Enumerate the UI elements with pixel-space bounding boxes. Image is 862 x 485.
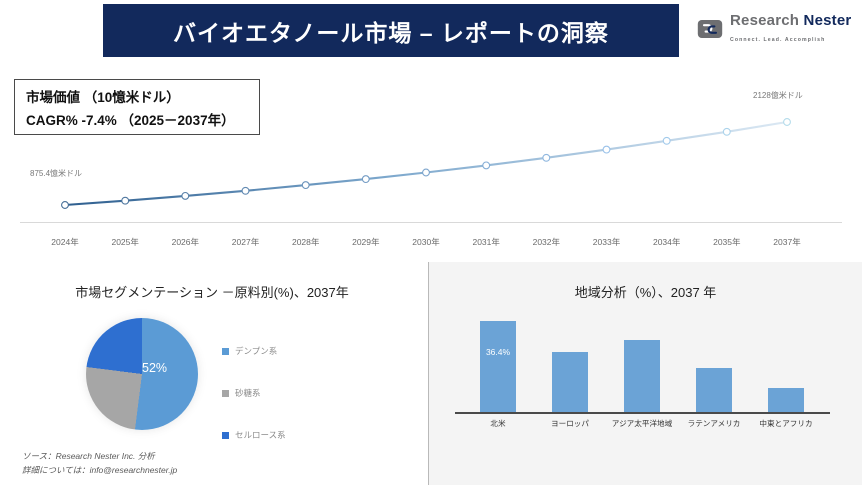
bar-category-label: ヨーロッパ <box>551 418 589 429</box>
line-chart-x-axis <box>20 222 842 223</box>
bar-rect <box>552 352 588 412</box>
bar-rect: 36.4% <box>480 321 516 412</box>
brand-logo[interactable]: Research Nester Connect. Lead. Accomplis… <box>697 13 862 45</box>
logo-tagline: Connect. Lead. Accomplish <box>730 37 825 43</box>
legend-swatch-icon <box>222 348 229 355</box>
x-axis-tick-6: 2030年 <box>412 236 439 248</box>
header-band: バイオエタノール市場 – レポートの洞察 <box>103 4 679 57</box>
line-end-value-label: 2128億米ドル <box>753 90 803 101</box>
line-data-point <box>182 193 189 200</box>
market-forecast-line-chart: 875.4憶米ドル 2128億米ドル <box>0 60 862 260</box>
bar-column <box>696 312 732 412</box>
bar-rect <box>624 340 660 413</box>
x-axis-tick-1: 2025年 <box>111 236 138 248</box>
source-line-2: 詳細については：info@researchnester.jp <box>22 463 177 477</box>
segmentation-panel-title: 市場セグメンテーション －原料別(%)、2037年 <box>0 282 424 301</box>
bar-category-label: 中東とアフリカ <box>759 418 812 429</box>
pie-legend-label: セルロース系 <box>235 429 286 441</box>
bar-rect <box>768 388 804 412</box>
line-data-point <box>242 187 249 194</box>
line-data-point <box>723 128 730 135</box>
regional-bar-chart: 36.4% <box>462 312 822 412</box>
x-axis-tick-11: 2035年 <box>713 236 740 248</box>
pie-legend: デンプン系砂糖系セルロース系 <box>222 330 286 456</box>
line-data-point <box>423 169 430 176</box>
legend-swatch-icon <box>222 390 229 397</box>
bar-column <box>552 312 588 412</box>
bar-column <box>624 312 660 412</box>
line-data-point <box>784 119 791 126</box>
x-axis-tick-9: 2033年 <box>593 236 620 248</box>
bar-category-label: アジア太平洋地域 <box>612 418 672 429</box>
line-data-point <box>663 137 670 144</box>
bar-value-label: 36.4% <box>486 347 510 357</box>
line-data-point <box>362 176 369 183</box>
pie-legend-label: デンプン系 <box>235 345 277 357</box>
pie-legend-item[interactable]: 砂糖系 <box>222 372 286 414</box>
line-data-point <box>483 162 490 169</box>
line-data-point <box>543 154 550 161</box>
x-axis-tick-0: 2024年 <box>51 236 78 248</box>
page-title: バイオエタノール市場 – レポートの洞察 <box>173 14 609 48</box>
logo-wordmark: Research Nester <box>730 12 851 29</box>
x-axis-tick-5: 2029年 <box>352 236 379 248</box>
regional-panel-title: 地域分析（%）、2037 年 <box>429 282 862 301</box>
bar-category-label: ラテンアメリカ <box>688 418 741 429</box>
bar-category-label: 北米 <box>490 418 505 429</box>
bar-chart-x-axis <box>455 412 830 414</box>
line-chart-svg <box>0 60 862 260</box>
research-nester-logo-icon <box>697 18 723 40</box>
pie-slice-value-label: 52% <box>142 361 167 375</box>
pie-legend-item[interactable]: デンプン系 <box>222 330 286 372</box>
logo-name-first: Research <box>730 12 799 29</box>
x-axis-tick-8: 2032年 <box>533 236 560 248</box>
line-chart-x-tick-labels: 2024年2025年2026年2027年2028年2029年2030年2031年… <box>0 236 862 252</box>
x-axis-tick-12: 2037年 <box>773 236 800 248</box>
source-note: ソース：Research Nester Inc. 分析 詳細については：info… <box>22 449 177 477</box>
logo-name-second: Nester <box>804 12 852 29</box>
line-data-point <box>62 202 69 209</box>
line-data-point <box>302 182 309 189</box>
x-axis-tick-7: 2031年 <box>472 236 499 248</box>
bar-rect <box>696 368 732 412</box>
bar-column <box>768 312 804 412</box>
x-axis-tick-2: 2026年 <box>172 236 199 248</box>
infographic-page: バイオエタノール市場 – レポートの洞察 Research Nester Con… <box>0 0 862 485</box>
bar-column: 36.4% <box>480 312 516 412</box>
pie-legend-label: 砂糖系 <box>235 387 261 399</box>
legend-swatch-icon <box>222 432 229 439</box>
x-axis-tick-4: 2028年 <box>292 236 319 248</box>
x-axis-tick-10: 2034年 <box>653 236 680 248</box>
line-data-point <box>603 146 610 153</box>
line-start-value-label: 875.4憶米ドル <box>30 168 82 179</box>
pie-legend-item[interactable]: セルロース系 <box>222 414 286 456</box>
x-axis-tick-3: 2027年 <box>232 236 259 248</box>
source-line-1: ソース：Research Nester Inc. 分析 <box>22 449 177 463</box>
line-data-point <box>122 197 129 204</box>
